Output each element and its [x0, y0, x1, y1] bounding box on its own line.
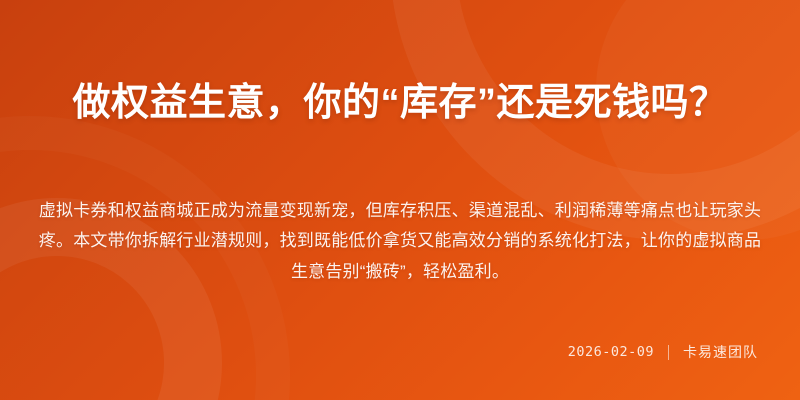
- team-name: 卡易速团队: [683, 342, 758, 362]
- footer-separator: [668, 345, 669, 360]
- publish-date: 2026-02-09: [568, 344, 654, 360]
- article-cover-banner: 做权益生意，你的“库存”还是死钱吗？ 虚拟卡券和权益商城正成为流量变现新宠，但库…: [0, 0, 800, 400]
- article-summary: 虚拟卡券和权益商城正成为流量变现新宠，但库存积压、渠道混乱、利润稀薄等痛点也让玩…: [38, 196, 762, 287]
- page-title: 做权益生意，你的“库存”还是死钱吗？: [38, 78, 762, 128]
- banner-footer: 2026-02-09 卡易速团队: [568, 342, 758, 362]
- banner-content: 做权益生意，你的“库存”还是死钱吗？ 虚拟卡券和权益商城正成为流量变现新宠，但库…: [0, 0, 800, 400]
